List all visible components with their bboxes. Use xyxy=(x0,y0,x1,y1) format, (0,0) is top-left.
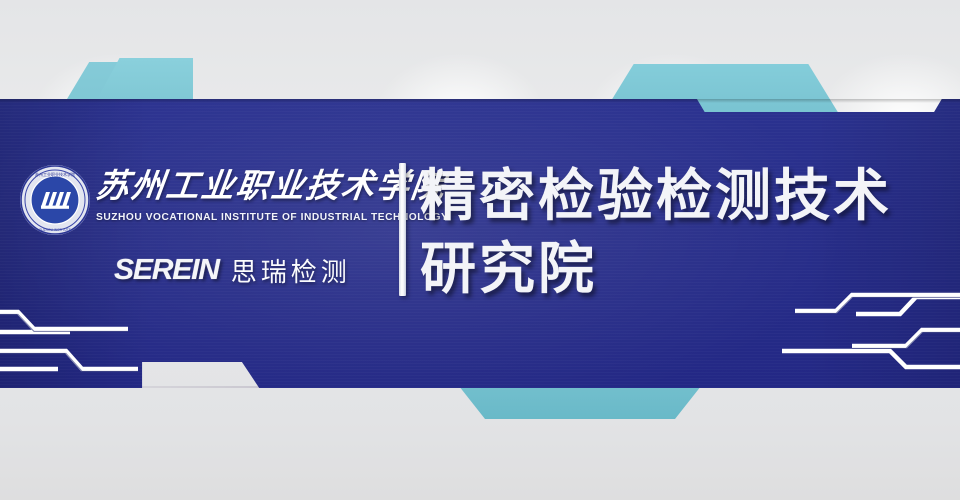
school-crest-icon: 苏州工业职业技术学院 SUZHOU INSTITUTE xyxy=(18,163,92,237)
school-name-en: SUZHOU VOCATIONAL INSTITUTE OF INDUSTRIA… xyxy=(96,212,396,223)
title-line-1: 精密检验检测技术 xyxy=(420,164,892,229)
svg-text:苏州工业职业技术学院: 苏州工业职业技术学院 xyxy=(35,171,75,177)
vertical-divider xyxy=(399,163,406,296)
svg-text:SUZHOU INSTITUTE: SUZHOU INSTITUTE xyxy=(39,228,72,232)
partner-brand-en: SEREIN xyxy=(114,254,219,287)
school-name-block: 苏州工业职业技术学院 SUZHOU VOCATIONAL INSTITUTE O… xyxy=(96,165,396,223)
title-line-2: 研究院 xyxy=(420,233,950,306)
partner-brand-lockup: SEREIN 思瑞检测 xyxy=(116,252,351,289)
signage-scene: 苏州工业职业技术学院 SUZHOU INSTITUTE 苏州工业职业技术学院 S… xyxy=(0,0,960,500)
page-title: 精密检验检测技术 研究院 xyxy=(420,160,950,306)
partner-brand-cn: 思瑞检测 xyxy=(231,252,351,289)
school-name-cn: 苏州工业职业技术学院 xyxy=(93,165,398,209)
